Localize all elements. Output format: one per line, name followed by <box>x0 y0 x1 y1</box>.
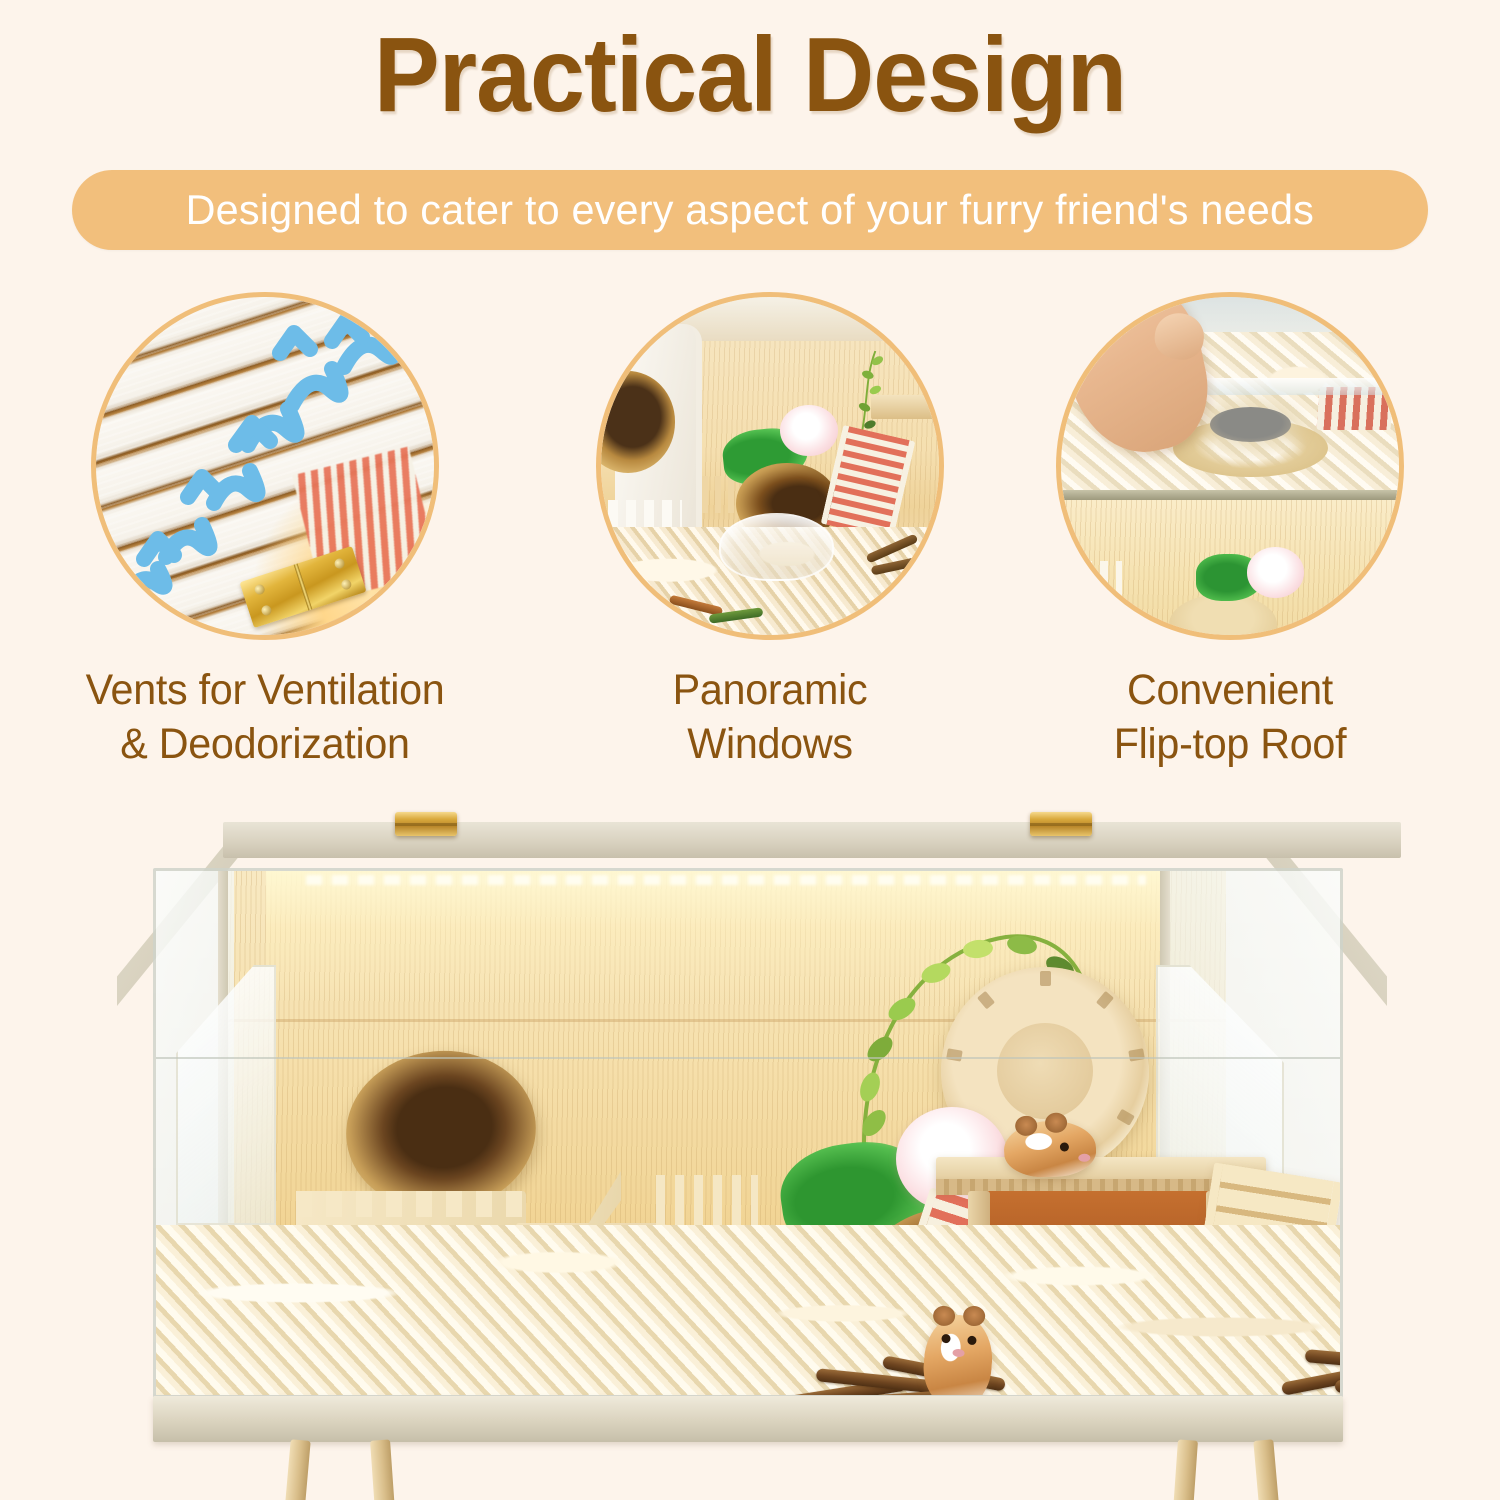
pink-rose-icon <box>1247 547 1304 598</box>
pink-rose-icon <box>780 405 837 456</box>
caption-line-1: Vents for Ventilation <box>73 664 457 718</box>
sand-bath-dome-icon <box>719 513 834 581</box>
feature-image-ventilation <box>91 292 439 640</box>
feature-caption-panoramic-windows: Panoramic Windows <box>578 664 962 772</box>
subtitle-banner: Designed to cater to every aspect of you… <box>72 170 1428 250</box>
castle-crenellation <box>296 1191 526 1217</box>
product-photo <box>0 782 1500 1500</box>
caption-line-1: Convenient <box>1038 664 1422 718</box>
feature-image-flip-top-roof <box>1056 292 1404 640</box>
led-light-strip <box>306 875 1146 885</box>
feature-flip-top-roof: Convenient Flip-top Roof <box>1030 292 1430 772</box>
shelf-divider <box>1061 490 1399 500</box>
page-title: Practical Design <box>53 18 1448 132</box>
apple-wood-sticks-right <box>1281 1341 1343 1398</box>
caption-line-2: & Deodorization <box>73 718 457 772</box>
hamster-cage <box>105 808 1393 1466</box>
leg-front-left <box>283 1439 310 1500</box>
feature-row: Vents for Ventilation & Deodorization <box>0 292 1500 772</box>
white-fence-icon <box>1068 561 1122 608</box>
feature-caption-flip-top-roof: Convenient Flip-top Roof <box>1038 664 1422 772</box>
leg-front-right <box>1253 1439 1280 1500</box>
brass-hinge-left-icon <box>395 812 457 836</box>
hamster-on-platform <box>1003 1119 1097 1178</box>
acrylic-seam-line <box>156 1057 1340 1059</box>
caption-line-2: Flip-top Roof <box>1038 718 1422 772</box>
subtitle-text: Designed to cater to every aspect of you… <box>186 186 1314 234</box>
panoramic-glass-panel <box>153 868 1343 1398</box>
feature-panoramic-windows: Panoramic Windows <box>570 292 970 772</box>
feature-ventilation: Vents for Ventilation & Deodorization <box>65 292 465 772</box>
leg-back-left <box>370 1439 396 1500</box>
caption-line-2: Windows <box>578 718 962 772</box>
brass-hinge-right-icon <box>1030 812 1092 836</box>
wood-shavings-bedding <box>156 1225 1340 1395</box>
feature-image-panoramic-windows <box>596 292 944 640</box>
wheel-hub <box>997 1023 1093 1119</box>
nest-opening-icon <box>1210 407 1291 442</box>
leg-back-right <box>1172 1439 1198 1500</box>
base-rail <box>153 1396 1343 1442</box>
feature-caption-ventilation: Vents for Ventilation & Deodorization <box>73 664 457 772</box>
caption-line-1: Panoramic <box>578 664 962 718</box>
